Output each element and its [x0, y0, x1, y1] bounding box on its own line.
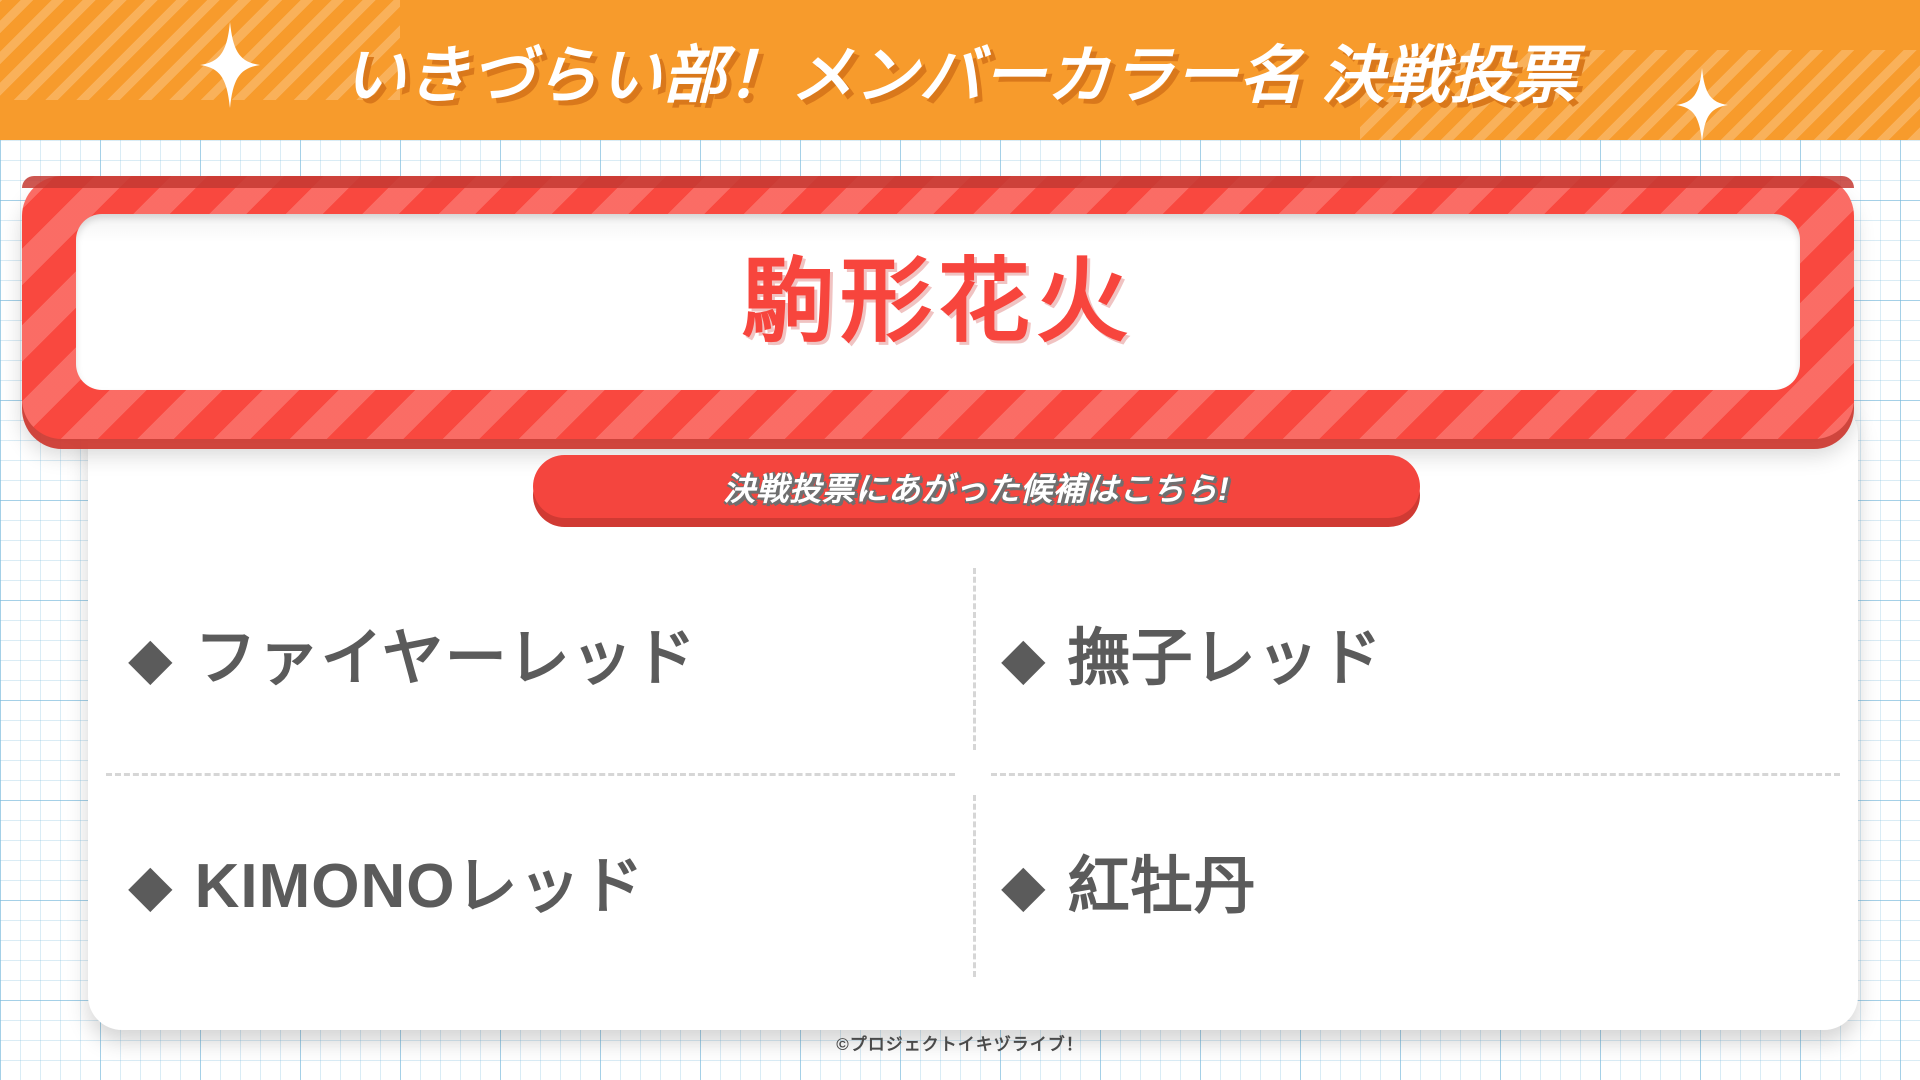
sparkle-star-icon-left	[200, 22, 260, 108]
page-title: いきづらい部！メンバーカラー名 決戦投票	[0, 0, 1920, 140]
footer-copyright: ©プロジェクトイキヅライブ！	[0, 1030, 1920, 1055]
header-banner: いきづらい部！メンバーカラー名 決戦投票	[0, 0, 1920, 140]
diamond-bullet-icon: ◆	[1001, 630, 1046, 688]
candidate-label-4: 紅牡丹	[1068, 854, 1257, 919]
diamond-bullet-icon: ◆	[128, 857, 173, 915]
sparkle-star-icon-right	[1676, 68, 1728, 140]
candidates-banner: 決戦投票にあがった候補はこちら!	[533, 455, 1420, 518]
diamond-bullet-icon: ◆	[1001, 857, 1046, 915]
candidates-grid: ◆ ファイヤーレッド ◆ 撫子レッド ◆ KIMONOレッド ◆ 紅牡丹	[88, 545, 1858, 1000]
diamond-bullet-icon: ◆	[128, 630, 173, 688]
candidate-item-4[interactable]: ◆ 紅牡丹	[973, 773, 1858, 1001]
candidate-label-2: 撫子レッド	[1068, 626, 1383, 691]
candidate-item-1[interactable]: ◆ ファイヤーレッド	[88, 545, 973, 773]
member-name-panel: 駒形花火	[76, 214, 1800, 390]
candidate-item-2[interactable]: ◆ 撫子レッド	[973, 545, 1858, 773]
member-name-text: 駒形花火	[742, 256, 1134, 348]
candidate-label-3: KIMONOレッド	[195, 854, 645, 919]
member-name-card: 駒形花火	[22, 176, 1854, 439]
candidate-label-1: ファイヤーレッド	[195, 626, 697, 691]
candidate-item-3[interactable]: ◆ KIMONOレッド	[88, 773, 973, 1001]
candidates-banner-label: 決戦投票にあがった候補はこちら!	[723, 464, 1230, 510]
